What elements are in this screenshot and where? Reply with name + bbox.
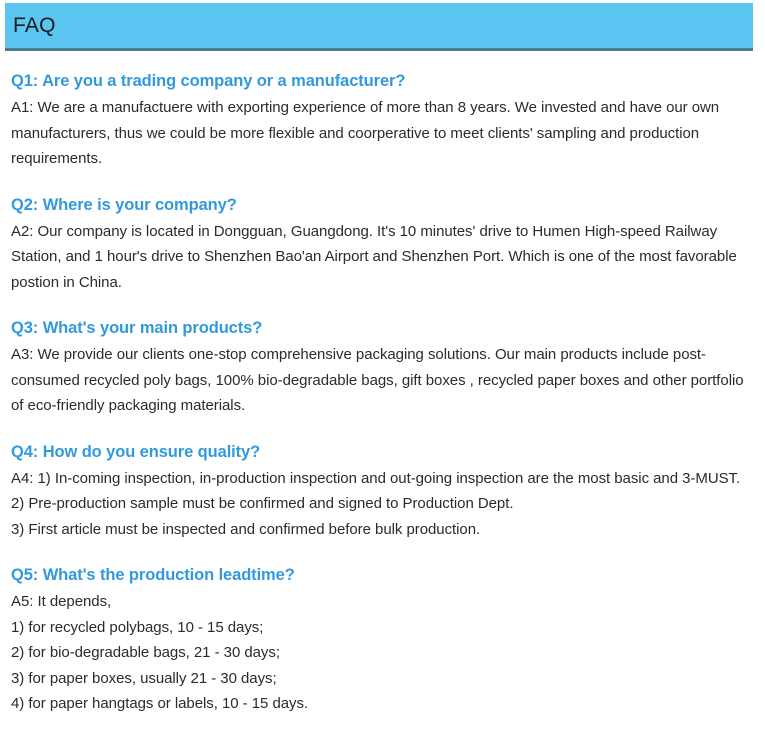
faq-item: Q2: Where is your company? A2: Our compa… — [11, 194, 753, 296]
faq-question: Q3: What's your main products? — [11, 317, 753, 340]
faq-answer-line: 2) for bio-degradable bags, 21 - 30 days… — [11, 640, 753, 666]
page-title: FAQ — [13, 13, 56, 39]
faq-question: Q2: Where is your company? — [11, 194, 753, 217]
faq-answer-line: 4) for paper hangtags or labels, 10 - 15… — [11, 691, 753, 717]
faq-item: Q1: Are you a trading company or a manuf… — [11, 70, 753, 172]
faq-answer-line: 2) Pre-production sample must be confirm… — [11, 491, 753, 517]
faq-question: Q1: Are you a trading company or a manuf… — [11, 70, 753, 93]
faq-answer-line: A3: We provide our clients one-stop comp… — [11, 342, 753, 419]
faq-item: Q4: How do you ensure quality? A4: 1) In… — [11, 441, 753, 543]
faq-answer: A1: We are a manufactuere with exporting… — [11, 95, 753, 172]
faq-answer-line: 3) First article must be inspected and c… — [11, 517, 753, 543]
faq-question: Q4: How do you ensure quality? — [11, 441, 753, 464]
faq-page: FAQ Q1: Are you a trading company or a m… — [0, 0, 765, 748]
faq-item: Q3: What's your main products? A3: We pr… — [11, 317, 753, 419]
faq-item: Q5: What's the production leadtime? A5: … — [11, 564, 753, 717]
faq-answer-line: A2: Our company is located in Dongguan, … — [11, 219, 753, 296]
faq-question: Q5: What's the production leadtime? — [11, 564, 753, 587]
faq-answer-line: A5: It depends, — [11, 589, 753, 615]
faq-answer-line: 1) for recycled polybags, 10 - 15 days; — [11, 615, 753, 641]
faq-answer-line: A1: We are a manufactuere with exporting… — [11, 95, 753, 172]
faq-answer: A3: We provide our clients one-stop comp… — [11, 342, 753, 419]
faq-header-banner: FAQ — [5, 3, 753, 51]
faq-answer: A4: 1) In-coming inspection, in-producti… — [11, 466, 753, 543]
faq-answer: A2: Our company is located in Dongguan, … — [11, 219, 753, 296]
faq-answer: A5: It depends, 1) for recycled polybags… — [11, 589, 753, 717]
faq-list: Q1: Are you a trading company or a manuf… — [11, 70, 753, 717]
faq-answer-line: 3) for paper boxes, usually 21 - 30 days… — [11, 666, 753, 692]
faq-answer-line: A4: 1) In-coming inspection, in-producti… — [11, 466, 753, 492]
